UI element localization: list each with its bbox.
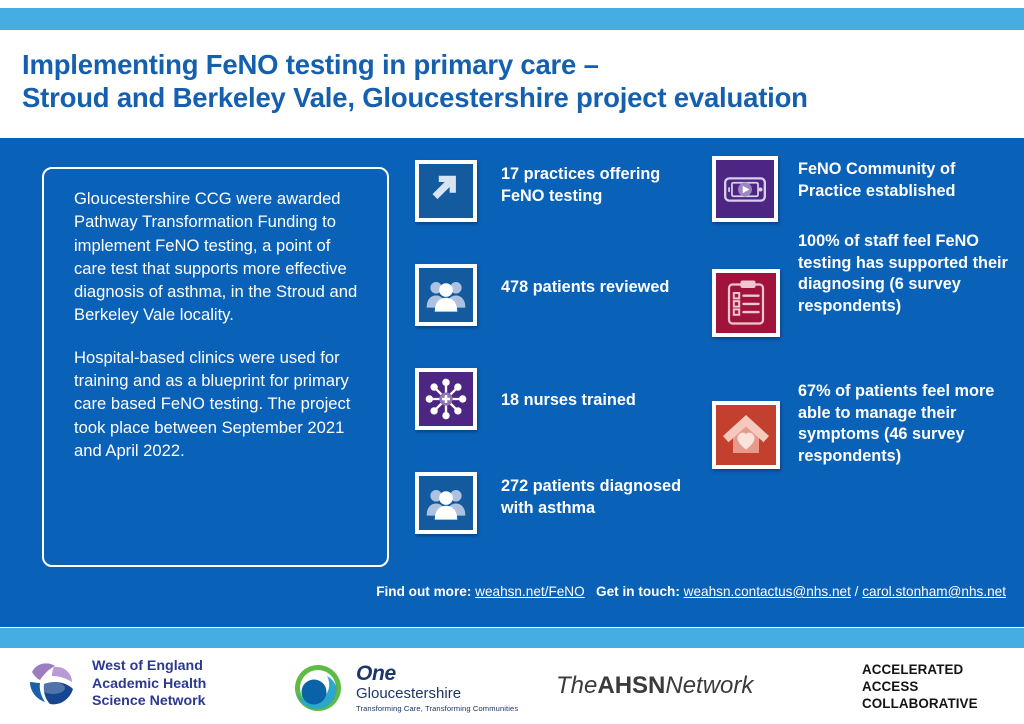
email-link-2[interactable]: carol.stonham@nhs.net — [862, 584, 1006, 599]
stat-item-practices: 17 practices offering FeNO testing — [415, 160, 705, 222]
ahsn-network-word: Network — [665, 672, 753, 699]
get-in-touch-label: Get in touch: — [596, 584, 680, 599]
weahsn-wordmark: West of England Academic Health Science … — [92, 658, 206, 711]
page-title-line-2: Stroud and Berkeley Vale, Gloucestershir… — [22, 81, 1012, 114]
link-separator: / — [855, 584, 859, 599]
stat-item-patients-diagnosed: 272 patients diagnosed with asthma — [415, 472, 705, 534]
stat-item-staff-confidence: 100% of staff feel FeNO testing has supp… — [712, 269, 1022, 355]
email-link-1[interactable]: weahsn.contactus@nhs.net — [684, 584, 851, 599]
stat-label-nurses-trained: 18 nurses trained — [501, 368, 636, 412]
gloucestershire-word: Gloucestershire — [356, 686, 518, 702]
stats-column-right: FeNO Community of Practice established — [712, 156, 1022, 487]
weahsn-line-3: Science Network — [92, 693, 206, 711]
stat-label-patients-diagnosed: 272 patients diagnosed with asthma — [501, 472, 705, 519]
people-group-icon-frame-1 — [415, 264, 477, 326]
ahsn-the: The — [556, 672, 597, 699]
infographic-page: Implementing FeNO testing in primary car… — [0, 0, 1024, 724]
network-nodes-icon-frame — [415, 368, 477, 430]
stat-item-nurses-trained: 18 nurses trained — [415, 368, 705, 430]
one-gloucestershire-mark-icon — [288, 662, 348, 714]
people-group-icon — [419, 476, 473, 530]
arrow-up-right-icon — [419, 164, 473, 218]
narrative-card: Gloucestershire CCG were awarded Pathway… — [42, 167, 389, 567]
house-heart-icon — [716, 405, 776, 465]
network-nodes-icon — [419, 372, 473, 426]
mobile-video-icon-frame — [712, 156, 778, 222]
stat-label-patient-management: 67% of patients feel more able to manage… — [798, 381, 1022, 467]
one-gloucestershire-wordmark: One Gloucestershire Transforming Care, T… — [356, 663, 518, 713]
main-panel: Gloucestershire CCG were awarded Pathway… — [0, 138, 1024, 627]
stats-column-middle: 17 practices offering FeNO testing — [415, 160, 705, 534]
aac-line-2: ACCESS — [862, 679, 978, 696]
logo-ahsn-network: TheAHSNNetwork — [556, 672, 753, 700]
aac-line-3: COLLABORATIVE — [862, 696, 978, 713]
ahsn-acronym: AHSN — [597, 672, 665, 699]
arrow-up-right-icon-frame — [415, 160, 477, 222]
people-group-icon — [419, 268, 473, 322]
clipboard-checklist-icon — [716, 273, 776, 333]
logo-west-of-england-ahsn: West of England Academic Health Science … — [22, 658, 206, 711]
stat-item-patients-reviewed: 478 patients reviewed — [415, 264, 705, 326]
stat-label-patients-reviewed: 478 patients reviewed — [501, 264, 669, 299]
weahsn-line-1: West of England — [92, 658, 206, 676]
house-heart-icon-frame — [712, 401, 780, 469]
bottom-accent-band — [0, 628, 1024, 648]
stat-label-community-of-practice: FeNO Community of Practice established — [798, 156, 1022, 202]
aac-line-1: ACCELERATED — [862, 662, 978, 679]
top-accent-band — [0, 8, 1024, 30]
stat-item-community-of-practice: FeNO Community of Practice established — [712, 156, 1022, 222]
stat-label-staff-confidence: 100% of staff feel FeNO testing has supp… — [798, 231, 1022, 317]
weahsn-line-2: Academic Health — [92, 676, 206, 694]
one-word: One — [356, 663, 518, 685]
stat-item-patient-management: 67% of patients feel more able to manage… — [712, 401, 1022, 487]
page-title-line-1: Implementing FeNO testing in primary car… — [22, 48, 1012, 81]
find-out-more-label: Find out more: — [376, 584, 471, 599]
logo-accelerated-access-collaborative: ACCELERATED ACCESS COLLABORATIVE — [862, 662, 978, 712]
clipboard-checklist-icon-frame — [712, 269, 780, 337]
weahsn-mark-icon — [22, 658, 82, 710]
contact-line: Find out more: weahsn.net/FeNO Get in to… — [0, 584, 1024, 599]
logo-strip: West of England Academic Health Science … — [0, 648, 1024, 724]
ahsn-network-wordmark: TheAHSNNetwork — [556, 672, 753, 700]
narrative-paragraph-1: Gloucestershire CCG were awarded Pathway… — [74, 187, 367, 327]
stat-label-practices: 17 practices offering FeNO testing — [501, 160, 705, 207]
one-tagline: Transforming Care, Transforming Communit… — [356, 705, 518, 713]
people-group-icon-frame-2 — [415, 472, 477, 534]
website-link[interactable]: weahsn.net/FeNO — [475, 584, 585, 599]
mobile-video-icon — [716, 160, 774, 218]
page-title: Implementing FeNO testing in primary car… — [22, 48, 1012, 114]
narrative-paragraph-2: Hospital-based clinics were used for tra… — [74, 346, 367, 462]
logo-one-gloucestershire: One Gloucestershire Transforming Care, T… — [288, 662, 518, 714]
aac-wordmark: ACCELERATED ACCESS COLLABORATIVE — [862, 662, 978, 712]
